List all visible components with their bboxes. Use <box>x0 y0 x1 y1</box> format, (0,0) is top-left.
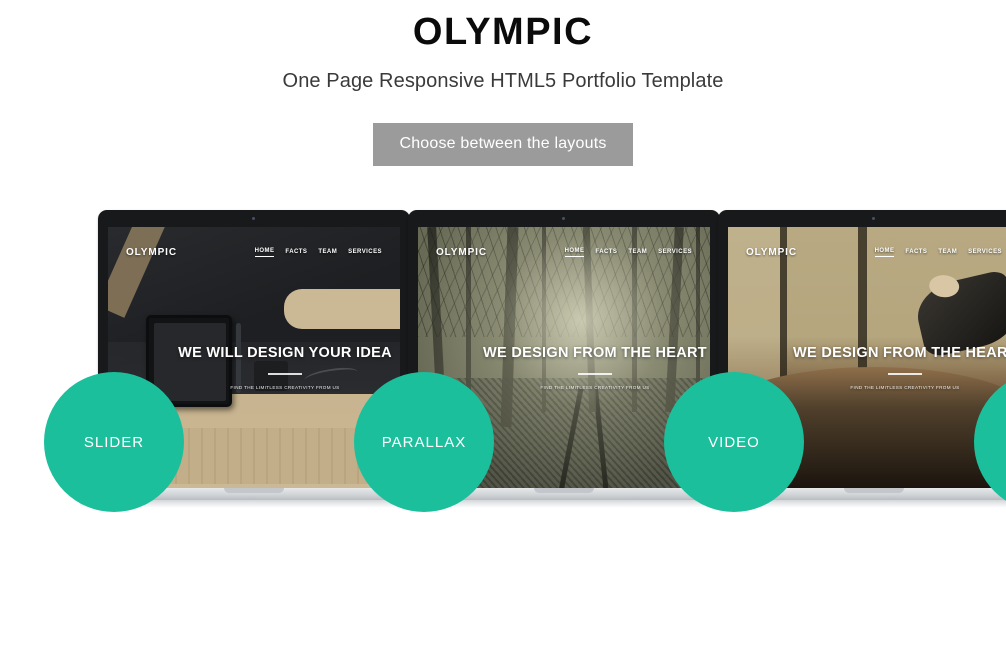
preview-menu-team[interactable]: TEAM <box>938 249 957 255</box>
preview-menu: HOME FACTS TEAM SERVICES <box>875 248 1002 257</box>
layout-badge-slider[interactable]: SLIDER <box>44 372 184 512</box>
webcam-icon <box>562 217 565 220</box>
layout-badge-parallax[interactable]: PARALLAX <box>354 372 494 512</box>
page-title: OLYMPIC <box>0 0 1006 51</box>
preview-menu-home[interactable]: HOME <box>255 248 275 257</box>
webcam-icon <box>252 217 255 220</box>
preview-menu-team[interactable]: TEAM <box>628 249 647 255</box>
page-subtitle: One Page Responsive HTML5 Portfolio Temp… <box>0 51 1006 92</box>
layout-badge-video[interactable]: VIDEO <box>664 372 804 512</box>
preview-navbar: OLYMPIC HOME FACTS TEAM SERVICES <box>418 243 710 261</box>
preview-menu-home[interactable]: HOME <box>565 248 585 257</box>
preview-tagline: FIND THE LIMITLESS CREATIVITY FROM US <box>480 385 710 390</box>
preview-logo: OLYMPIC <box>746 247 797 258</box>
preview-menu: HOME FACTS TEAM SERVICES <box>255 248 382 257</box>
preview-tagline: FIND THE LIMITLESS CREATIVITY FROM US <box>790 385 1006 390</box>
preview-headline: WE WILL DESIGN YOUR IDEA <box>170 345 400 361</box>
preview-menu-team[interactable]: TEAM <box>318 249 337 255</box>
preview-navbar: OLYMPIC HOME FACTS TEAM SERVICES <box>108 243 400 261</box>
preview-menu-services[interactable]: SERVICES <box>348 249 382 255</box>
preview-menu-home[interactable]: HOME <box>875 248 895 257</box>
page-root: OLYMPIC One Page Responsive HTML5 Portfo… <box>0 0 1006 655</box>
preview-menu-services[interactable]: SERVICES <box>968 249 1002 255</box>
preview-tagline: FIND THE LIMITLESS CREATIVITY FROM US <box>170 385 400 390</box>
preview-divider <box>268 373 302 375</box>
preview-menu-facts[interactable]: FACTS <box>905 249 927 255</box>
webcam-icon <box>872 217 875 220</box>
choose-layout-button[interactable]: Choose between the layouts <box>373 123 632 166</box>
preview-menu: HOME FACTS TEAM SERVICES <box>565 248 692 257</box>
preview-navbar: OLYMPIC HOME FACTS TEAM SERVICES <box>728 243 1006 261</box>
preview-headline: WE DESIGN FROM THE HEART <box>480 345 710 361</box>
preview-headline: WE DESIGN FROM THE HEART <box>790 345 1006 361</box>
cta-container: Choose between the layouts <box>0 92 1006 166</box>
preview-divider <box>888 373 922 375</box>
preview-logo: OLYMPIC <box>436 247 487 258</box>
preview-menu-services[interactable]: SERVICES <box>658 249 692 255</box>
preview-divider <box>578 373 612 375</box>
preview-menu-facts[interactable]: FACTS <box>595 249 617 255</box>
page-header: OLYMPIC One Page Responsive HTML5 Portfo… <box>0 0 1006 166</box>
preview-menu-facts[interactable]: FACTS <box>285 249 307 255</box>
preview-logo: OLYMPIC <box>126 247 177 258</box>
